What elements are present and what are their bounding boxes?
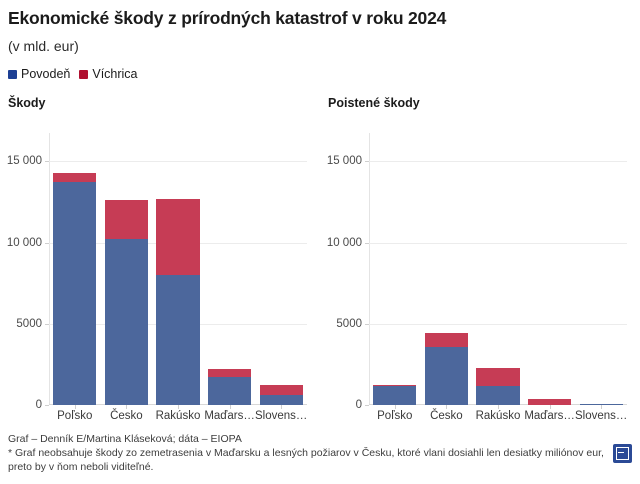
y-axis-tick-label: 5000 bbox=[336, 318, 362, 330]
x-axis-tick-label: Rakúsko bbox=[476, 410, 521, 422]
y-axis-line bbox=[49, 133, 50, 405]
y-axis-tick-label: 5000 bbox=[16, 318, 42, 330]
gridline bbox=[369, 243, 627, 244]
y-tick-mark bbox=[365, 405, 369, 406]
legend-item-vichrica: Víchrica bbox=[79, 67, 137, 81]
legend-swatch-povoden bbox=[8, 70, 17, 79]
legend-label-povoden: Povodeň bbox=[21, 67, 70, 81]
page-title: Ekonomické škody z prírodných katastrof … bbox=[8, 8, 628, 29]
footer-note: * Graf neobsahuje škody zo zemetrasenia … bbox=[8, 446, 608, 474]
x-axis-tick-label: Poľsko bbox=[377, 410, 412, 422]
chart-page: Ekonomické škody z prírodných katastrof … bbox=[0, 0, 640, 484]
bar-segment-vichrica[interactable] bbox=[53, 173, 96, 183]
y-tick-mark bbox=[45, 405, 49, 406]
x-axis-tick-label: Česko bbox=[430, 410, 463, 422]
y-axis-line bbox=[369, 133, 370, 405]
page-subtitle: (v mld. eur) bbox=[8, 38, 79, 54]
x-axis-tick-label: Slovens… bbox=[575, 410, 627, 422]
x-tick-mark bbox=[498, 405, 499, 409]
chart-footer: Graf – Denník E/Martina Kláseková; dáta … bbox=[8, 432, 608, 474]
gridline bbox=[49, 161, 307, 162]
x-axis-tick-label: Rakúsko bbox=[156, 410, 201, 422]
bar-group[interactable]: Rakúsko bbox=[476, 368, 519, 405]
x-tick-mark bbox=[395, 405, 396, 409]
bar-segment-vichrica[interactable] bbox=[156, 199, 199, 275]
logo-frame-icon bbox=[616, 447, 629, 460]
plot-area-poistene-skody: 0500010 00015 000PoľskoČeskoRakúskoMaďar… bbox=[369, 145, 627, 405]
bar-segment-vichrica[interactable] bbox=[476, 368, 519, 386]
legend-item-povoden: Povodeň bbox=[8, 67, 70, 81]
bar-segment-vichrica[interactable] bbox=[208, 369, 251, 376]
x-axis-tick-label: Slovens… bbox=[255, 410, 307, 422]
x-tick-mark bbox=[550, 405, 551, 409]
bar-group[interactable]: Poľsko bbox=[53, 173, 96, 405]
x-axis-tick-label: Poľsko bbox=[57, 410, 92, 422]
bar-segment-vichrica[interactable] bbox=[373, 385, 416, 387]
bar-segment-vichrica[interactable] bbox=[260, 385, 303, 396]
y-tick-mark bbox=[365, 243, 369, 244]
x-tick-mark bbox=[446, 405, 447, 409]
bar-segment-povoden[interactable] bbox=[208, 377, 251, 405]
chart-legend: Povodeň Víchrica bbox=[8, 67, 138, 81]
x-axis-tick-label: Maďars… bbox=[204, 410, 255, 422]
bar-segment-povoden[interactable] bbox=[425, 347, 468, 406]
bar-group[interactable]: Česko bbox=[425, 333, 468, 405]
bar-group[interactable]: Rakúsko bbox=[156, 199, 199, 405]
y-axis-tick-label: 10 000 bbox=[7, 237, 42, 249]
y-tick-mark bbox=[45, 324, 49, 325]
bar-segment-povoden[interactable] bbox=[53, 182, 96, 405]
y-tick-mark bbox=[365, 324, 369, 325]
bar-group[interactable]: Česko bbox=[105, 200, 148, 405]
plot-area-skody: 0500010 00015 000PoľskoČeskoRakúskoMaďar… bbox=[49, 145, 307, 405]
bar-segment-povoden[interactable] bbox=[156, 275, 199, 405]
logo-bar-icon bbox=[618, 452, 624, 454]
bar-segment-vichrica[interactable] bbox=[425, 333, 468, 347]
x-tick-mark bbox=[281, 405, 282, 409]
bar-segment-povoden[interactable] bbox=[476, 386, 519, 405]
x-axis-tick-label: Maďars… bbox=[524, 410, 575, 422]
y-tick-mark bbox=[45, 161, 49, 162]
y-tick-mark bbox=[45, 243, 49, 244]
x-tick-mark bbox=[75, 405, 76, 409]
bar-group[interactable]: Slovens… bbox=[260, 385, 303, 405]
panel-title-poistene-skody: Poistené škody bbox=[328, 96, 420, 110]
bar-group[interactable]: Poľsko bbox=[373, 385, 416, 405]
legend-label-vichrica: Víchrica bbox=[92, 67, 137, 81]
legend-swatch-vichrica bbox=[79, 70, 88, 79]
denник-e-logo-icon bbox=[613, 444, 632, 463]
bar-segment-povoden[interactable] bbox=[105, 239, 148, 405]
bar-segment-povoden[interactable] bbox=[373, 386, 416, 405]
y-axis-tick-label: 15 000 bbox=[7, 155, 42, 167]
x-tick-mark bbox=[178, 405, 179, 409]
x-tick-mark bbox=[230, 405, 231, 409]
bar-segment-povoden[interactable] bbox=[260, 395, 303, 405]
gridline bbox=[369, 161, 627, 162]
x-axis-tick-label: Česko bbox=[110, 410, 143, 422]
y-tick-mark bbox=[365, 161, 369, 162]
x-tick-mark bbox=[126, 405, 127, 409]
gridline bbox=[369, 324, 627, 325]
panel-title-skody: Škody bbox=[8, 96, 46, 110]
bar-segment-vichrica[interactable] bbox=[105, 200, 148, 239]
y-axis-tick-label: 10 000 bbox=[327, 237, 362, 249]
x-tick-mark bbox=[601, 405, 602, 409]
footer-credit: Graf – Denník E/Martina Kláseková; dáta … bbox=[8, 432, 608, 446]
bar-group[interactable]: Maďars… bbox=[208, 369, 251, 405]
y-axis-tick-label: 15 000 bbox=[327, 155, 362, 167]
y-axis-tick-label: 0 bbox=[356, 399, 362, 411]
y-axis-tick-label: 0 bbox=[36, 399, 42, 411]
